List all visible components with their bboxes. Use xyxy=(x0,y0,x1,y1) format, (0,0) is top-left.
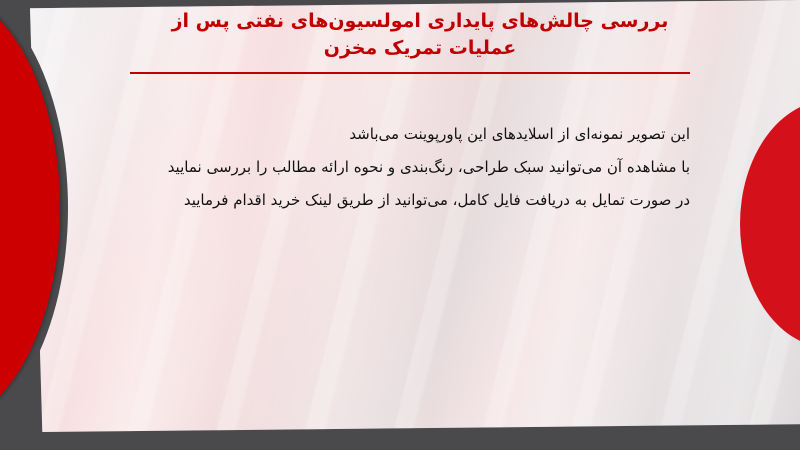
body-line-1: این تصویر نمونه‌ای از اسلایدهای این پاور… xyxy=(90,118,690,151)
slide-title-line-2: عملیات تمریک مخزن xyxy=(120,35,720,62)
body-line-2: با مشاهده آن می‌توانید سبک طراحی، رنگ‌بن… xyxy=(90,151,690,184)
body-line-3: در صورت تمایل به دریافت فایل کامل، می‌تو… xyxy=(90,184,690,217)
slide-canvas: بررسی چالش‌های پایداری امولسیون‌های نفتی… xyxy=(0,0,800,450)
slide-title-line-1: بررسی چالش‌های پایداری امولسیون‌های نفتی… xyxy=(120,8,720,35)
slide-body: این تصویر نمونه‌ای از اسلایدهای این پاور… xyxy=(90,118,690,217)
slide-title: بررسی چالش‌های پایداری امولسیون‌های نفتی… xyxy=(120,8,720,62)
title-underline-rule xyxy=(130,72,690,74)
